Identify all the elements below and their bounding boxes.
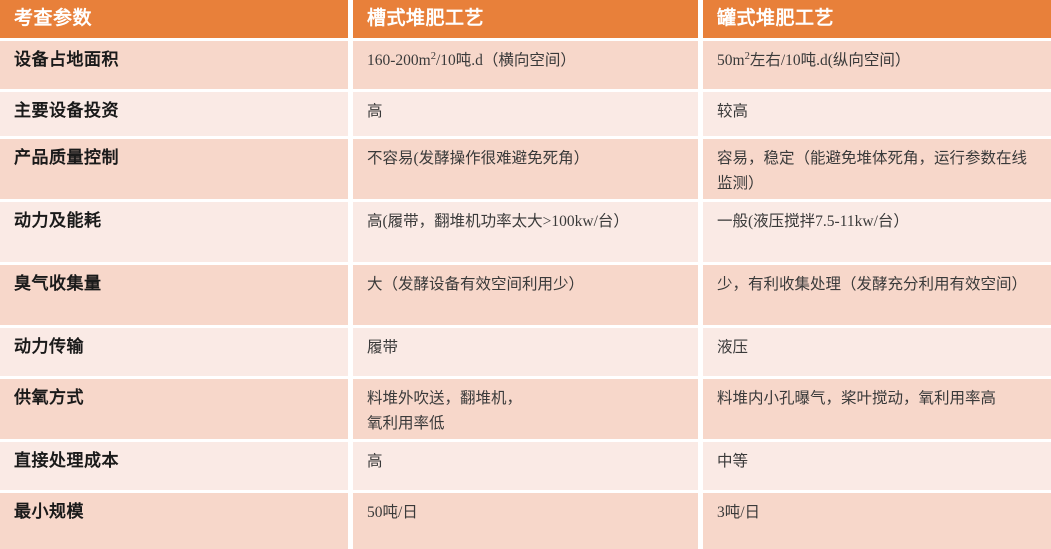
cell-tank: 较高	[703, 92, 1051, 136]
cell-text: 50m	[717, 52, 745, 69]
cell-trough: 160-200m2/10吨.d（横向空间）	[353, 41, 698, 89]
cell-text: /10吨.d（横向空间）	[436, 52, 576, 69]
comparison-table: 考查参数 槽式堆肥工艺 罐式堆肥工艺 设备占地面积 160-200m2/10吨.…	[0, 0, 1051, 530]
row-label: 供氧方式	[0, 379, 348, 439]
cell-trough: 高(履带，翻堆机功率太大>100kw/台）	[353, 202, 698, 262]
row-label: 直接处理成本	[0, 442, 348, 490]
row-label: 设备占地面积	[0, 41, 348, 89]
cell-tank: 容易，稳定（能避免堆体死角，运行参数在线监测）	[703, 139, 1051, 199]
table-row: 设备占地面积 160-200m2/10吨.d（横向空间） 50m2左右/10吨.…	[0, 41, 1051, 89]
cell-text: 左右/10吨.d(纵向空间）	[750, 52, 911, 69]
column-header-trough-process: 槽式堆肥工艺	[353, 0, 698, 38]
cell-tank: 一般(液压搅拌7.5-11kw/台）	[703, 202, 1051, 262]
row-label: 动力及能耗	[0, 202, 348, 262]
cell-trough: 料堆外吹送，翻堆机， 氧利用率低	[353, 379, 698, 439]
table-row: 动力传输 履带 液压	[0, 328, 1051, 376]
cell-tank: 少，有利收集处理（发酵充分利用有效空间）	[703, 265, 1051, 325]
row-label: 动力传输	[0, 328, 348, 376]
column-header-parameter: 考查参数	[0, 0, 348, 38]
cell-trough: 高	[353, 442, 698, 490]
cell-tank: 3吨/日	[703, 493, 1051, 549]
cell-trough: 大（发酵设备有效空间利用少）	[353, 265, 698, 325]
cell-trough: 高	[353, 92, 698, 136]
cell-tank: 50m2左右/10吨.d(纵向空间）	[703, 41, 1051, 89]
cell-text: 160-200m	[367, 52, 431, 69]
table-row: 直接处理成本 高 中等	[0, 442, 1051, 490]
cell-trough: 履带	[353, 328, 698, 376]
table-row: 动力及能耗 高(履带，翻堆机功率太大>100kw/台） 一般(液压搅拌7.5-1…	[0, 202, 1051, 262]
cell-tank: 料堆内小孔曝气，桨叶搅动，氧利用率高	[703, 379, 1051, 439]
table-row: 主要设备投资 高 较高	[0, 92, 1051, 136]
column-header-tank-process: 罐式堆肥工艺	[703, 0, 1051, 38]
table-row: 供氧方式 料堆外吹送，翻堆机， 氧利用率低 料堆内小孔曝气，桨叶搅动，氧利用率高	[0, 379, 1051, 439]
cell-trough: 不容易(发酵操作很难避免死角）	[353, 139, 698, 199]
cell-trough: 50吨/日	[353, 493, 698, 549]
row-label: 主要设备投资	[0, 92, 348, 136]
table-header-row: 考查参数 槽式堆肥工艺 罐式堆肥工艺	[0, 0, 1051, 38]
row-label: 产品质量控制	[0, 139, 348, 199]
row-label: 最小规模	[0, 493, 348, 549]
table-row: 最小规模 50吨/日 3吨/日	[0, 493, 1051, 549]
table-row: 产品质量控制 不容易(发酵操作很难避免死角） 容易，稳定（能避免堆体死角，运行参…	[0, 139, 1051, 199]
cell-tank: 液压	[703, 328, 1051, 376]
table-row: 臭气收集量 大（发酵设备有效空间利用少） 少，有利收集处理（发酵充分利用有效空间…	[0, 265, 1051, 325]
row-label: 臭气收集量	[0, 265, 348, 325]
cell-tank: 中等	[703, 442, 1051, 490]
